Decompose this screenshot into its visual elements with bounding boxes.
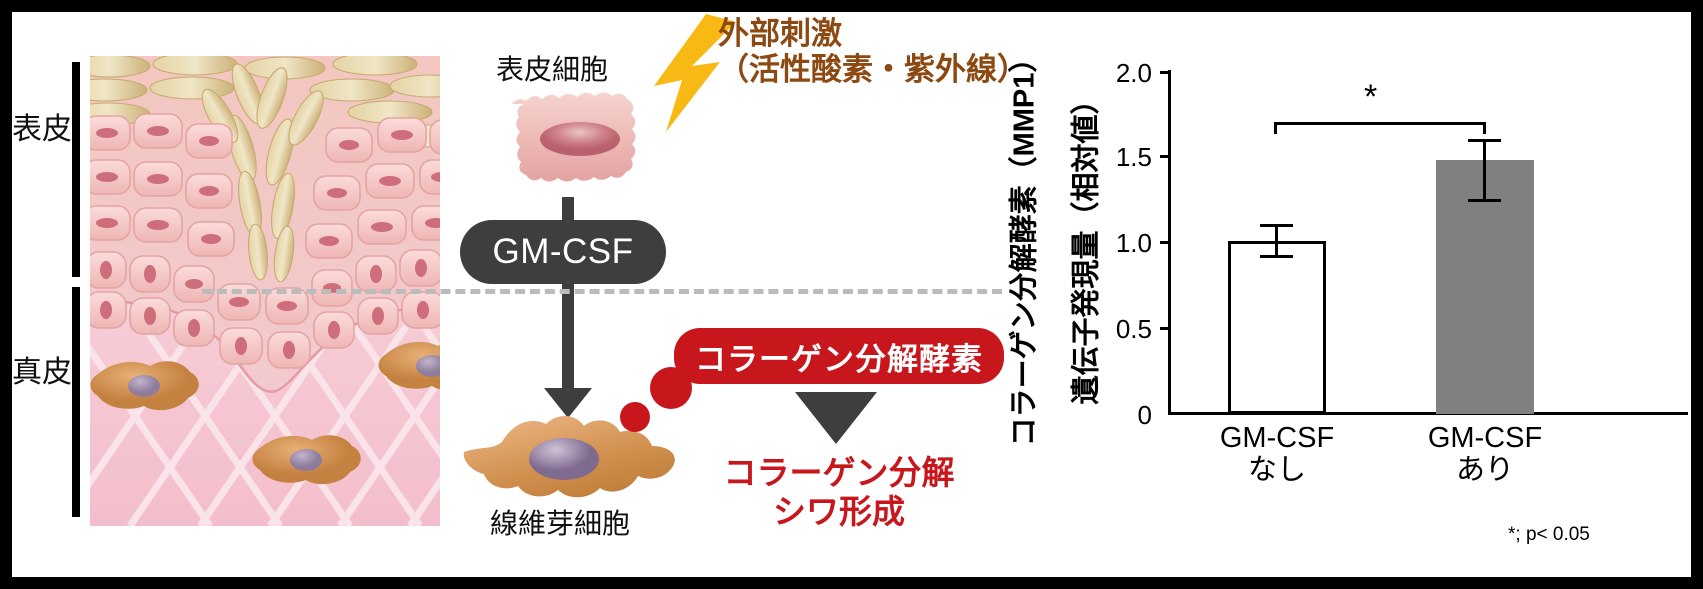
chart-footnote: *; p< 0.05	[1508, 524, 1590, 546]
fibroblast-label: 線維芽細胞	[490, 502, 630, 542]
epidermis-bracket	[72, 62, 80, 277]
figure-canvas: 表皮 真皮	[12, 12, 1691, 577]
pathway-diagram: 表皮細胞 外部刺激 （活性酸素・紫外線）	[452, 12, 1012, 577]
error-bar-line-1	[1275, 224, 1278, 258]
error-bar-cap-bottom-1	[1260, 255, 1293, 258]
gm-csf-pill[interactable]: GM-CSF	[460, 220, 666, 284]
external-stimulus-text: 外部刺激 （活性酸素・紫外線）	[718, 16, 1028, 88]
epidermis-dermis-divider	[202, 289, 1002, 294]
mmp1-expression-bar-chart: コラーゲン分解酵素（MMP1） 遺伝子発現量（相対値） 2.0 1.5 1.0 …	[1012, 12, 1691, 577]
consequence-triangle-icon	[795, 392, 877, 444]
significance-bracket-left-tick	[1274, 122, 1277, 134]
significance-star: *	[1364, 78, 1377, 117]
dermis-bracket	[72, 287, 80, 517]
collagenase-banner-label: コラーゲン分解酵素	[695, 334, 983, 379]
y-axis-label: コラーゲン分解酵素（MMP1） 遺伝子発現量（相対値）	[1018, 30, 1092, 460]
outcome-line-1: コラーゲン分解	[674, 454, 1004, 493]
epidermis-label: 表皮	[12, 114, 72, 145]
collagenase-banner: コラーゲン分解酵素	[674, 328, 1004, 384]
epidermal-cell-illustration	[498, 82, 678, 197]
y-tick-label-0: 0	[1096, 400, 1152, 431]
significance-bracket	[1274, 122, 1486, 125]
figure-frame: 表皮 真皮	[0, 0, 1703, 589]
error-bar-cap-top-1	[1260, 224, 1293, 227]
enzyme-dot-small	[620, 402, 650, 432]
outcome-line-2: シワ形成	[674, 493, 1004, 532]
gm-csf-label: GM-CSF	[492, 232, 633, 272]
pathway-stem-lower	[562, 282, 574, 394]
error-bar-cap-bottom-2	[1468, 199, 1501, 202]
x-category-label-2: GM-CSF あり	[1410, 422, 1560, 487]
skin-cross-section-panel: 表皮 真皮	[12, 12, 452, 577]
error-bar-line-2	[1483, 139, 1486, 202]
outcome-text: コラーゲン分解 シワ形成	[674, 454, 1004, 532]
dermis-label: 真皮	[12, 357, 72, 388]
y-tick-label-0-5: 0.5	[1096, 314, 1152, 345]
y-axis-line	[1168, 70, 1171, 415]
fibroblast-illustration	[462, 402, 692, 517]
y-tick-label-1-5: 1.5	[1096, 142, 1152, 173]
x-category-1-top: GM-CSF	[1202, 422, 1352, 454]
y-tick-label-2-0: 2.0	[1096, 58, 1152, 89]
error-bar-cap-top-2	[1468, 139, 1501, 142]
x-category-2-bottom: あり	[1410, 454, 1560, 486]
bar-gm-csf-absent[interactable]	[1228, 241, 1326, 414]
x-category-2-top: GM-CSF	[1410, 422, 1560, 454]
significance-bracket-right-tick	[1483, 122, 1486, 134]
y-axis-label-line-1: コラーゲン分解酵素（MMP1）	[1000, 44, 1042, 447]
x-category-label-1: GM-CSF なし	[1202, 422, 1352, 487]
x-category-1-bottom: なし	[1202, 454, 1352, 486]
y-tick-label-1-0: 1.0	[1096, 228, 1152, 259]
